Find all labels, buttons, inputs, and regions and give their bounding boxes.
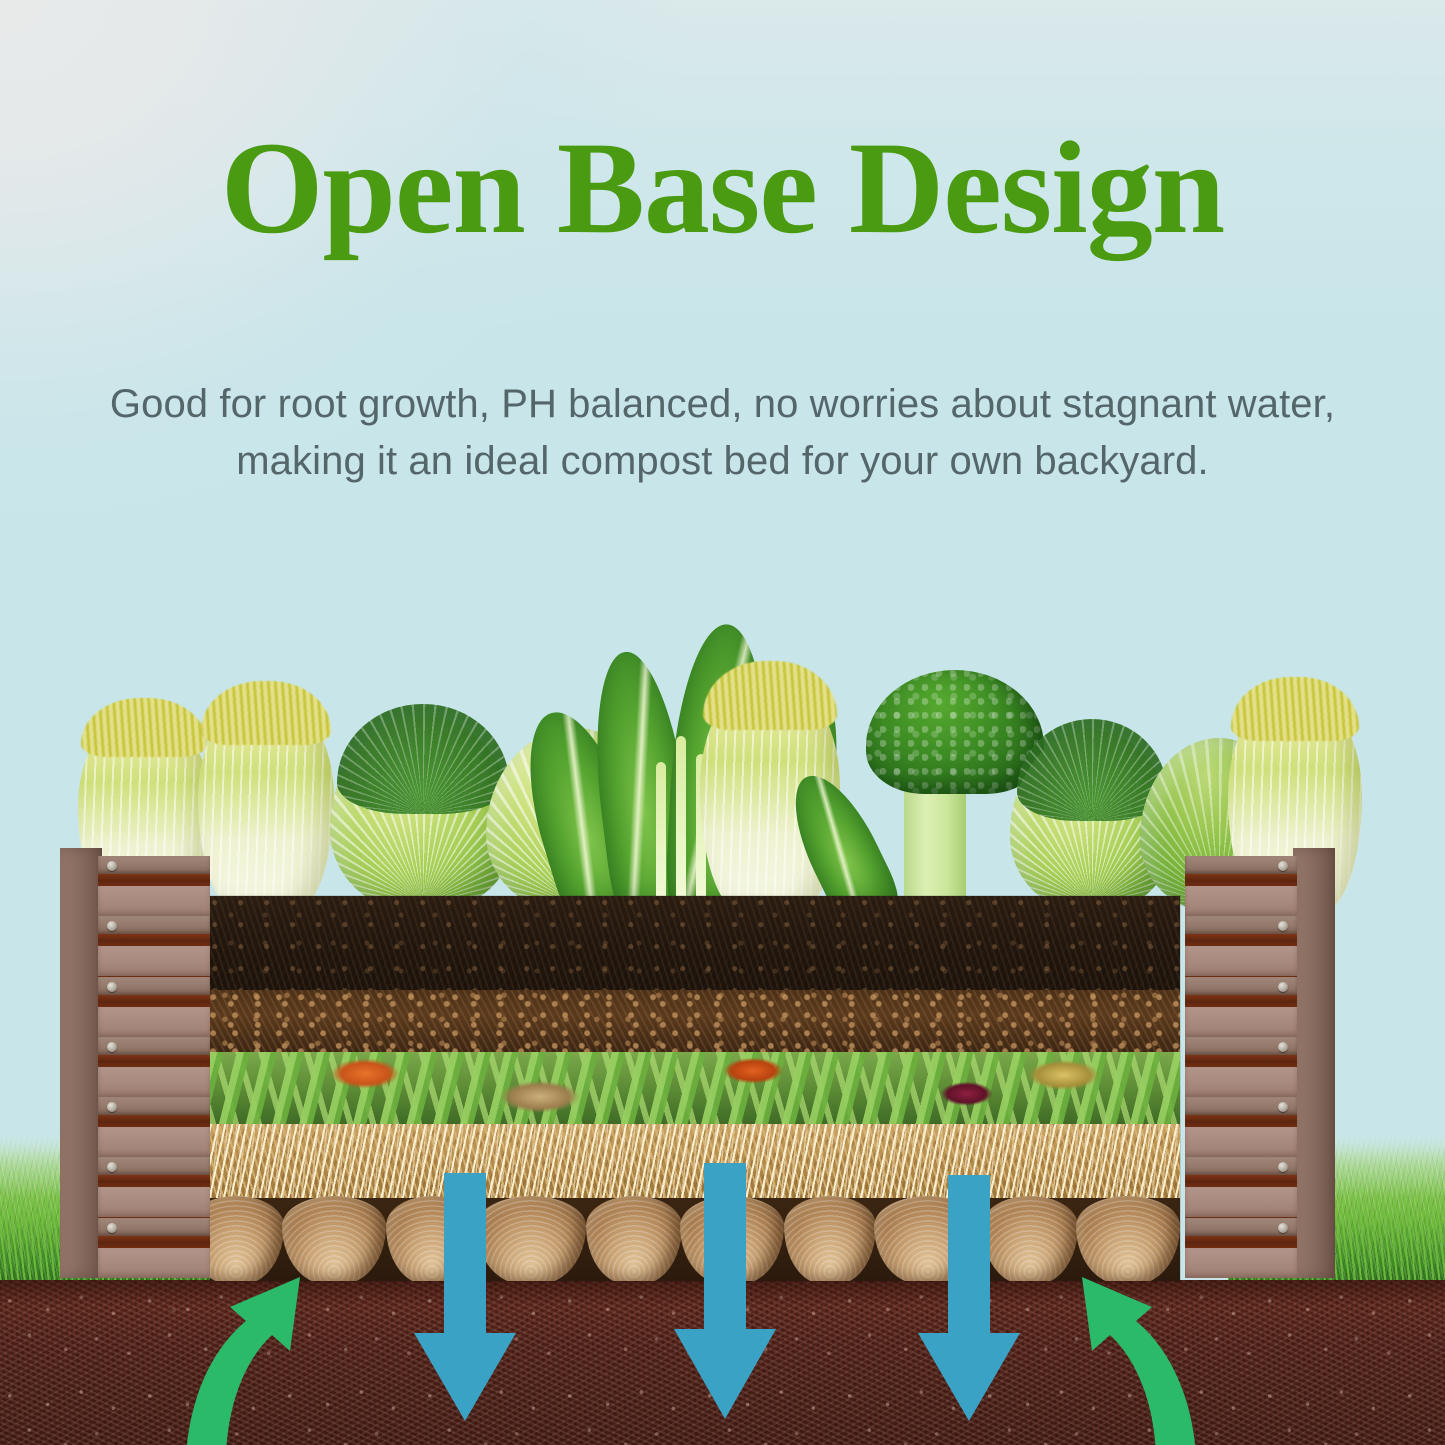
- slat-gap: [98, 934, 210, 946]
- slat-panel: [98, 1067, 210, 1097]
- slat-panel: [1185, 946, 1297, 976]
- garden-bed-scene: [0, 560, 1445, 1445]
- layer-food-scraps: [210, 1052, 1180, 1124]
- infographic-canvas: Open Base Design Good for root growth, P…: [0, 0, 1445, 1445]
- screw-icon: [1278, 982, 1288, 992]
- slat-gap: [98, 995, 210, 1007]
- corner-post-right: [1293, 848, 1335, 1278]
- bed-slat: [98, 1097, 210, 1157]
- layer-topsoil: [210, 896, 1180, 990]
- slat-panel: [98, 1007, 210, 1037]
- screw-icon: [107, 982, 117, 992]
- slat-panel: [98, 1127, 210, 1157]
- bed-slat: [98, 916, 210, 976]
- napa-frill: [81, 698, 208, 757]
- bed-slat: [98, 856, 210, 916]
- slat-panel: [1185, 886, 1297, 916]
- slat-gap: [1185, 1115, 1297, 1127]
- bed-slat: [98, 1037, 210, 1097]
- screw-icon: [1278, 861, 1288, 871]
- slat-panel: [1185, 1127, 1297, 1157]
- drainage-arrow-down-1: [404, 1173, 524, 1431]
- slat-gap: [98, 1115, 210, 1127]
- airflow-arrow-up-left: [168, 1229, 338, 1445]
- slat-panel: [98, 946, 210, 976]
- slat-gap: [98, 1175, 210, 1187]
- bed-slat: [1185, 856, 1297, 916]
- bed-slat: [98, 977, 210, 1037]
- slat-panel: [98, 886, 210, 916]
- slat-gap: [1185, 1055, 1297, 1067]
- slat-panel: [1185, 1187, 1297, 1217]
- bed-slat: [1185, 1037, 1297, 1097]
- airflow-arrow-up-right: [1044, 1229, 1214, 1445]
- bed-slat: [1185, 916, 1297, 976]
- drainage-arrow-down-3: [908, 1175, 1028, 1431]
- page-subtitle: Good for root growth, PH balanced, no wo…: [68, 376, 1378, 490]
- bed-slat: [98, 1157, 210, 1217]
- bed-slat: [1185, 1157, 1297, 1217]
- bed-slat: [1185, 977, 1297, 1037]
- slat-panel: [1185, 1007, 1297, 1037]
- slat-gap: [98, 874, 210, 886]
- slat-panel: [1185, 1067, 1297, 1097]
- screw-icon: [107, 861, 117, 871]
- napa-frill: [201, 681, 332, 745]
- slat-gap: [1185, 934, 1297, 946]
- slat-panel: [98, 1187, 210, 1217]
- slat-gap: [98, 1055, 210, 1067]
- page-subtitle-line-1: Good for root growth, PH balanced, no wo…: [68, 376, 1378, 433]
- drainage-arrow-down-2: [664, 1163, 784, 1429]
- savoy-outer-leaves: [337, 704, 508, 814]
- napa-frill: [1231, 677, 1360, 742]
- page-title: Open Base Design: [0, 122, 1445, 254]
- screw-icon: [107, 1042, 117, 1052]
- slat-gap: [1185, 1175, 1297, 1187]
- page-subtitle-line-2: making it an ideal compost bed for your …: [68, 433, 1378, 490]
- bed-slat: [1185, 1097, 1297, 1157]
- corner-post-left: [60, 848, 102, 1278]
- slat-gap: [1185, 874, 1297, 886]
- screw-icon: [1278, 1042, 1288, 1052]
- flow-arrow-group: [0, 1215, 1445, 1445]
- broccoli-head: [866, 670, 1044, 794]
- layer-compost: [210, 990, 1180, 1052]
- slat-gap: [1185, 995, 1297, 1007]
